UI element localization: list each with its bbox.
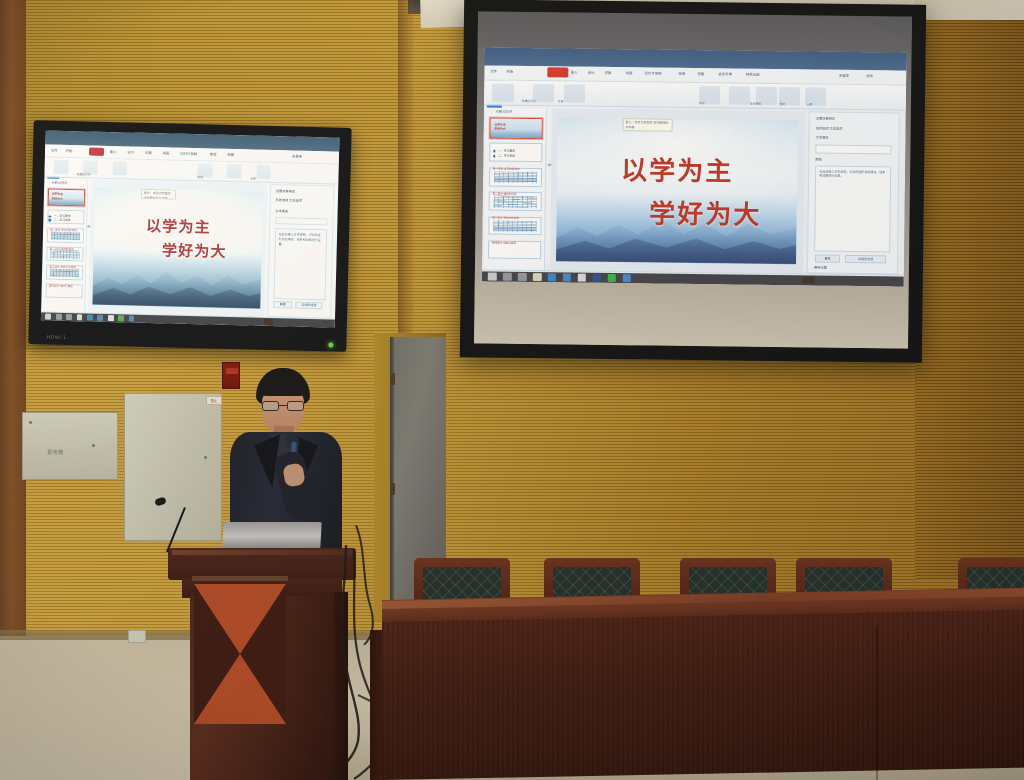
thumbnail-title: 以学为主 学好为大: [52, 192, 63, 201]
menu-animation[interactable]: 动画: [626, 70, 633, 75]
ribbon-label-find: 查找替换: [750, 102, 761, 106]
powerpoint-icon[interactable]: [129, 315, 135, 321]
ribbon-group-font[interactable]: [564, 85, 585, 103]
side-reset-button[interactable]: 重置: [815, 254, 840, 262]
menu-features[interactable]: 特色功能: [746, 71, 760, 76]
tv-ribbon-label: 排列: [197, 175, 203, 179]
tv-power-led-icon: [328, 342, 333, 347]
taskview-icon[interactable]: [518, 273, 526, 281]
thumbnail-table: [50, 268, 79, 277]
table-front-panel: [382, 610, 1024, 780]
conference-table: [382, 600, 1024, 780]
tv-thumbnail-3[interactable]: 第一部分 学习内容安排: [47, 228, 84, 243]
gooseneck-microphone[interactable]: [150, 496, 190, 554]
start-icon[interactable]: [488, 272, 496, 280]
junction-box[interactable]: 配电箱: [22, 412, 118, 480]
tv-thumbnail-6[interactable]: 第四部分 总结与展望: [45, 283, 82, 298]
tv-powerpoint-window[interactable]: 以学为主 学好为大.pptx + 文件 开始 插入 设计 切换 动画 幻灯片放映…: [41, 130, 340, 327]
slide-note-box[interactable]: 备注：本页为封面页 请勿删除此文本框: [622, 118, 673, 131]
tv-slide-thumbnail-panel[interactable]: 大纲 幻灯片 以学为主 学好为大 一、学习要求 二、学习安排 第一部分 学习内容…: [43, 179, 89, 312]
side-field-label-1: 颜色: [815, 156, 821, 161]
tv-side-heading: 设置对象格式: [276, 188, 295, 193]
projected-desktop[interactable]: 以学为主 学好为大.pptx + 文件 开始 插入 设计 切换 动画 幻灯片放映…: [482, 47, 907, 286]
tv-menu-design[interactable]: 设计: [127, 149, 134, 154]
tv-thumbnail-5[interactable]: 第三部分 考核方式说明: [46, 265, 83, 280]
explorer-icon[interactable]: [533, 273, 541, 281]
tv-slide-line-1: 以学为主: [94, 214, 262, 239]
account-status[interactable]: 未登录: [839, 72, 849, 77]
ribbon-label-shape: 形状: [699, 101, 705, 105]
tv-ribbon-group[interactable]: [112, 161, 127, 175]
tv-menu-animation[interactable]: 动画: [163, 150, 170, 155]
tv-menu-view[interactable]: 视图: [227, 152, 234, 157]
lens-left: [262, 401, 279, 411]
menu-slideshow[interactable]: 幻灯片放映: [645, 70, 662, 75]
slide-title: 以学为主 学好为大: [556, 149, 798, 232]
projection-surface: 以学为主 学好为大.pptx + 文件 开始 插入 设计 切换 动画 幻灯片放映…: [474, 11, 912, 348]
menu-member[interactable]: 会员专享: [718, 71, 732, 76]
format-side-panel[interactable]: 设置对象格式 形状选项 文本选项 文本填充 颜色 在此处输入文字说明，可对所选形…: [807, 111, 900, 275]
wechat-icon[interactable]: [108, 315, 114, 321]
thumbnail-header: 第四部分 总结与展望: [492, 240, 516, 244]
menu-review[interactable]: 审阅: [678, 70, 685, 75]
tv-slide-title: 以学为主 学好为大: [94, 214, 263, 263]
search-icon[interactable]: [503, 272, 511, 280]
thumbnail-title: 以学为主 学好为大: [494, 122, 505, 131]
side-note: 在此处输入文字说明，可对所选形状的填充、线条和效果进行设置。: [814, 165, 891, 253]
menu-transition[interactable]: 切换: [605, 70, 612, 75]
tv-ribbon-group[interactable]: [227, 164, 242, 178]
panel-label: 配电箱: [47, 449, 63, 456]
tv-side-subheading[interactable]: 形状选项 文本选项: [276, 197, 303, 203]
thumbs-header: 大纲 幻灯片: [496, 109, 513, 114]
projected-powerpoint-window[interactable]: 以学为主 学好为大.pptx + 文件 开始 插入 设计 切换 动画 幻灯片放映…: [482, 47, 907, 286]
tv-side-note: 在此处输入文字说明，可对所选形状的填充、线条和效果进行设置。: [273, 228, 327, 300]
tv-screen[interactable]: 以学为主 学好为大.pptx + 文件 开始 插入 设计 切换 动画 幻灯片放映…: [41, 130, 340, 327]
collab-button[interactable]: 协作: [866, 73, 873, 78]
tv-side-apply-button[interactable]: 应用到全部: [296, 302, 323, 309]
ribbon-group-paste[interactable]: [492, 84, 513, 102]
wps-icon[interactable]: [608, 274, 616, 282]
taskview-icon[interactable]: [66, 314, 72, 320]
side-apply-button[interactable]: 应用到全部: [845, 255, 886, 264]
thumbnail-table: [493, 196, 536, 208]
tv-side-field-color[interactable]: [275, 217, 328, 226]
glasses-bridge: [279, 405, 287, 406]
tv-ribbon-group[interactable]: [256, 165, 271, 179]
table-panel-seam: [876, 626, 878, 780]
ribbon-group-arrange[interactable]: [729, 87, 750, 105]
menu-insert[interactable]: 插入: [571, 69, 578, 74]
lectern-panel-trim: [192, 576, 288, 581]
tv-menu-slideshow[interactable]: 幻灯片放映: [180, 150, 197, 155]
tv-menu-transition[interactable]: 切换: [145, 150, 152, 155]
tv-format-side-panel[interactable]: 设置对象格式 形状选项 文本选项 文本填充 在此处输入文字说明，可对所选形状的填…: [267, 184, 333, 318]
slide-line-2: 学好为大: [556, 192, 797, 232]
menu-view[interactable]: 视图: [697, 71, 704, 76]
tv-menu-home[interactable]: 开始: [66, 148, 73, 153]
tv-ribbon-label: 新建幻灯片: [77, 172, 91, 176]
tv-ribbon-label: 分享: [250, 176, 256, 180]
edge-icon[interactable]: [548, 273, 556, 281]
tv-thumbs-header: 大纲 幻灯片: [52, 180, 68, 184]
projection-screen: 以学为主 学好为大.pptx + 文件 开始 插入 设计 切换 动画 幻灯片放映…: [460, 0, 926, 363]
ribbon-label-share: 分享: [807, 102, 813, 106]
explorer-icon[interactable]: [77, 314, 83, 320]
edge-icon[interactable]: [87, 314, 93, 320]
projection-dark-top: [478, 11, 912, 52]
door-hinge-icon: [390, 373, 395, 385]
thumbnail-header: 第四部分 总结与展望: [49, 283, 73, 288]
tv-ribbon-group[interactable]: [53, 160, 68, 174]
slide-canvas[interactable]: 以学为主 学好为大 备注：本页为封面页 请勿删除此文本框: [556, 118, 798, 264]
ribbon-label-select: 选择: [779, 102, 785, 106]
menu-design[interactable]: 设计: [588, 69, 595, 74]
tv-input-label: HDMI 1: [46, 335, 66, 341]
projection-dark-bottom: [474, 281, 909, 348]
slide-stage[interactable]: 以学为主 学好为大 备注：本页为封面页 请勿删除此文本框: [549, 108, 804, 274]
ribbon-label-newslide: 新建幻灯片: [522, 99, 536, 103]
tv-slide-stage[interactable]: 以学为主 学好为大 备注：本页为封面页 请勿删除此文本框: [88, 180, 268, 316]
search-icon[interactable]: [56, 314, 62, 320]
gooseneck-capsule-icon: [154, 496, 167, 506]
wall-outlet[interactable]: [128, 630, 146, 643]
tv-menu-review[interactable]: 审阅: [210, 151, 217, 156]
thumbnail-5[interactable]: 第三部分 考核方式说明: [488, 216, 541, 235]
side-section: 文本填充: [816, 135, 829, 140]
tv-slide-line-2: 学好为大: [94, 238, 262, 263]
ribbon-label-font: 字体: [558, 99, 564, 103]
thumbnail-table: [50, 250, 79, 259]
word-icon[interactable]: [593, 273, 601, 281]
left-pilaster: [0, 0, 26, 640]
screw-icon: [92, 444, 95, 447]
thumbnail-4[interactable]: 第二部分 课程时间表: [488, 192, 541, 211]
tv-thumbnail-1[interactable]: 以学为主 学好为大: [48, 188, 85, 206]
tv-thumbnail-4[interactable]: 第二部分 课程时间表: [46, 246, 83, 261]
screw-icon: [29, 421, 32, 424]
chrome-icon[interactable]: [97, 315, 103, 321]
gooseneck-stem: [166, 507, 186, 552]
thumbnail-1[interactable]: 以学为主 学好为大: [489, 118, 542, 140]
slide-thumbnail-panel[interactable]: 大纲 幻灯片 以学为主 学好为大 一、学习要求 二、学习安排 第一部分 学习内容…: [484, 107, 547, 270]
thumbnail-table: [51, 231, 80, 240]
right-wall-section: [915, 20, 1024, 580]
tv-app-logo-icon: [89, 147, 104, 156]
tv-thumbnail-2[interactable]: 一、学习要求 二、学习安排: [47, 209, 84, 224]
thumbnail-3[interactable]: 第一部分 学习内容安排: [489, 167, 542, 186]
thumbnail-bullet: 一、学习要求: [498, 148, 515, 152]
side-footer[interactable]: 高级设置: [814, 265, 827, 270]
thumbnail-table: [493, 220, 536, 232]
menu-home[interactable]: 开始: [506, 68, 513, 73]
side-heading: 设置对象格式: [816, 115, 835, 120]
tv-slide-canvas[interactable]: 以学为主 学好为大 备注：本页为封面页 请勿删除此文本框: [93, 188, 263, 308]
tv-status-account[interactable]: 未登录: [292, 153, 302, 158]
ribbon: 新建幻灯片 字体 形状 查找替换 选择 分享: [484, 80, 906, 111]
thumbnail-6[interactable]: 第四部分 总结与展望: [488, 241, 541, 260]
door-hinge-icon: [390, 483, 395, 495]
tv-menu-file[interactable]: 文件: [51, 147, 58, 152]
thumbnail-bullet: 二、学习安排: [54, 217, 71, 221]
tv-menu-insert[interactable]: 插入: [110, 149, 117, 154]
wall-seam: [398, 0, 414, 340]
powerpoint-icon[interactable]: [623, 274, 631, 282]
eyeglasses-icon: [262, 401, 304, 411]
conference-room-photo: 配电箱 禁止 以学为主 学好为大.pptx + 文件 开始 插入 设计 切换: [0, 0, 1024, 780]
app-logo-icon: [548, 67, 569, 77]
wechat-icon[interactable]: [578, 273, 586, 281]
wall-mounted-tv[interactable]: 以学为主 学好为大.pptx + 文件 开始 插入 设计 切换 动画 幻灯片放映…: [28, 120, 351, 352]
lens-right: [287, 401, 304, 411]
menu-file[interactable]: 文件: [490, 68, 497, 73]
start-icon[interactable]: [45, 313, 51, 319]
slide-line-1: 以学为主: [557, 149, 798, 189]
tv-side-reset-button[interactable]: 重置: [274, 301, 293, 308]
thumbnail-bullet: 二、学习安排: [498, 153, 515, 157]
side-field-color[interactable]: [815, 144, 891, 155]
tv-slide-note-box[interactable]: 备注：本页为封面页 请勿删除此文本框: [141, 189, 176, 200]
thumbnail-table: [494, 171, 537, 183]
thumbnail-2[interactable]: 一、学习要求 二、学习安排: [489, 143, 542, 162]
wps-icon[interactable]: [118, 315, 124, 321]
tv-side-section: 文本填充: [275, 208, 288, 213]
chrome-icon[interactable]: [563, 273, 571, 281]
side-subheading[interactable]: 形状选项 文本选项: [816, 125, 842, 130]
